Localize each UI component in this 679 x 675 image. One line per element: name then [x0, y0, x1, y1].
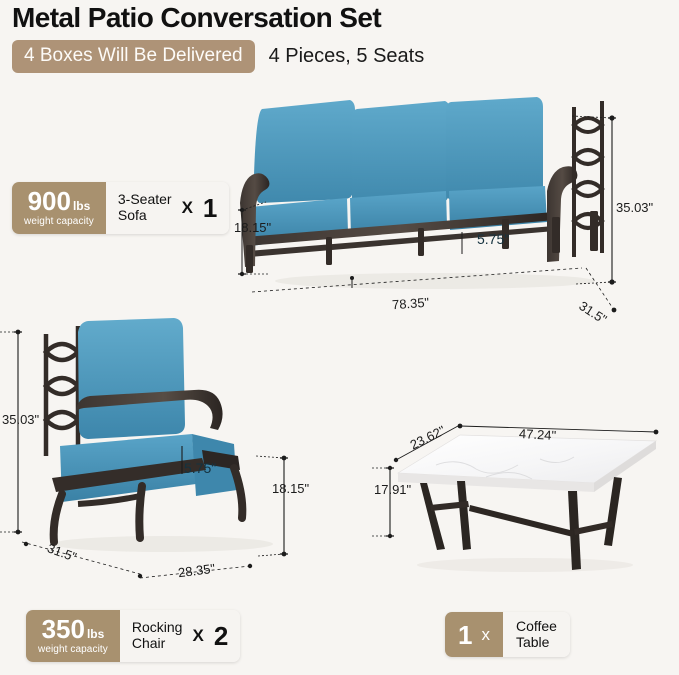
- chair-item-name-line2: Chair: [132, 636, 183, 652]
- sofa-capacity-badge: 900lbs weight capacity 3-Seater Sofa X 1: [12, 182, 229, 234]
- sofa-quantity: 1: [203, 195, 217, 221]
- chair-quantity: 2: [214, 623, 228, 649]
- sofa-multiplier: X: [182, 198, 193, 218]
- chair-item-name-line1: Rocking: [132, 620, 183, 636]
- table-quantity: 1: [458, 622, 472, 648]
- chair-capacity-block: 350lbs weight capacity: [26, 610, 120, 662]
- sofa-item-name: 3-Seater Sofa: [118, 192, 172, 223]
- page-title: Metal Patio Conversation Set: [12, 2, 381, 34]
- sofa-capacity-number: 900: [28, 186, 71, 216]
- chair-capacity-value: 350lbs: [42, 616, 105, 642]
- sofa-capacity-block: 900lbs weight capacity: [12, 182, 106, 234]
- sofa-capacity-caption: weight capacity: [24, 216, 94, 227]
- infographic-page: Metal Patio Conversation Set 4 Boxes Wil…: [0, 0, 679, 675]
- boxes-delivered-badge: 4 Boxes Will Be Delivered: [12, 40, 255, 73]
- pieces-seats-label: 4 Pieces, 5 Seats: [269, 45, 425, 68]
- table-quantity-block: 1 x: [445, 612, 503, 657]
- chair-back-height-label: 35.03": [2, 412, 39, 427]
- chair-seat-height-label: 18.15": [272, 481, 309, 496]
- table-item-name-line1: Coffee: [516, 619, 557, 635]
- chair-cushion-thickness-label: 5.75": [184, 460, 216, 476]
- chair-capacity-caption: weight capacity: [38, 644, 108, 655]
- chair-multiplier: X: [192, 626, 203, 646]
- chair-item-name: Rocking Chair: [132, 620, 183, 651]
- sofa-back-height-label: 35.03": [616, 200, 653, 215]
- chair-capacity-number: 350: [42, 614, 85, 644]
- sofa-capacity-unit: lbs: [73, 199, 90, 213]
- chair-capacity-unit: lbs: [87, 627, 104, 641]
- sofa-item-block: 3-Seater Sofa X 1: [106, 182, 230, 234]
- table-height-label: 17.91": [374, 482, 411, 497]
- sofa-cushion-thickness-label: 5.75": [477, 231, 509, 247]
- sofa-item-name-line1: 3-Seater: [118, 192, 172, 208]
- table-width-label: 47.24": [519, 426, 557, 443]
- sofa-capacity-value: 900lbs: [28, 188, 91, 214]
- chair-dimension-lines: [0, 310, 330, 600]
- chair-capacity-badge: 350lbs weight capacity Rocking Chair X 2: [26, 610, 240, 662]
- sofa-seat-height-label: 18.15": [234, 220, 271, 235]
- table-item-name-line2: Table: [516, 635, 557, 651]
- coffee-table-badge: 1 x Coffee Table: [445, 612, 570, 657]
- sofa-width-label: 78.35": [392, 295, 430, 313]
- table-multiplier: x: [481, 625, 490, 645]
- sofa-item-name-line2: Sofa: [118, 208, 172, 224]
- table-item-name: Coffee Table: [503, 612, 570, 657]
- chair-item-block: Rocking Chair X 2: [120, 610, 240, 662]
- header-subrow: 4 Boxes Will Be Delivered 4 Pieces, 5 Se…: [12, 40, 424, 73]
